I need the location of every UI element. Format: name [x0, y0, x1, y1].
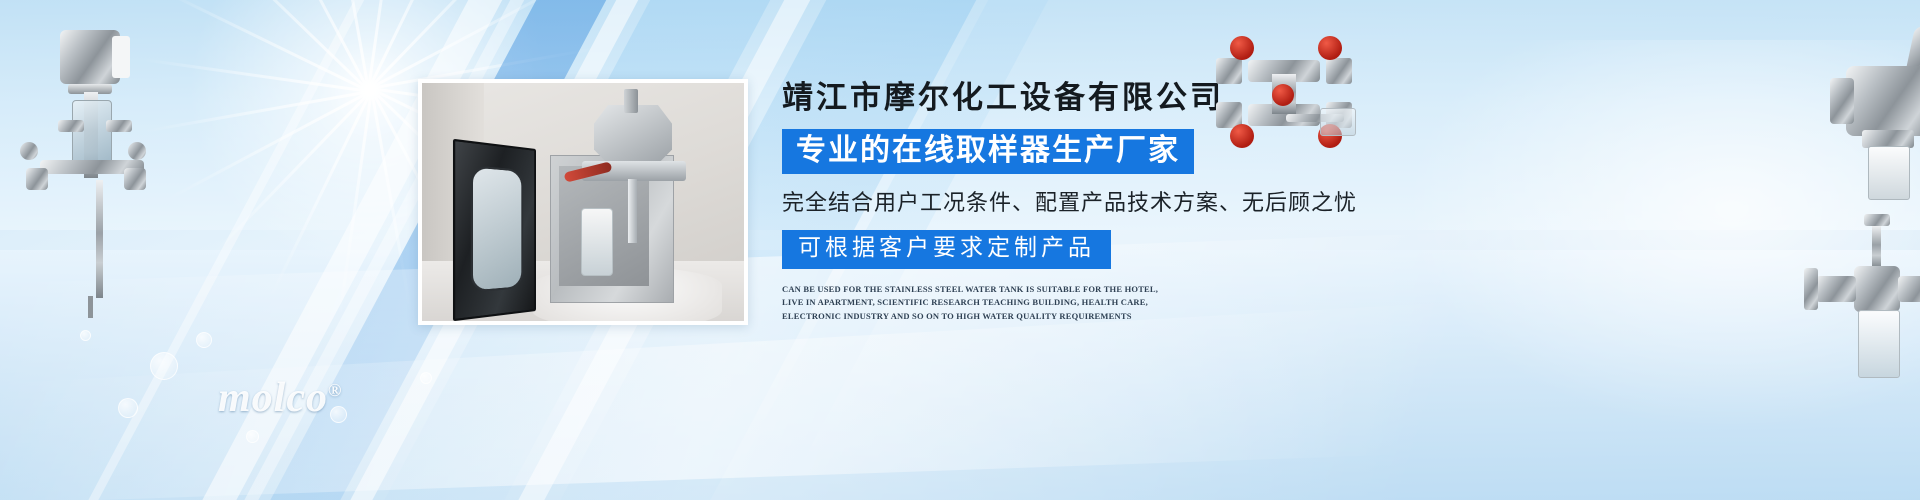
english-description: CAN BE USED FOR THE STAINLESS STEEL WATE… [782, 283, 1172, 324]
subheadline: 完全结合用户工况条件、配置产品技术方案、无后顾之忧 [782, 185, 1402, 217]
bubble [246, 430, 259, 443]
red-handwheel-icon [1230, 124, 1254, 148]
callout-highlight: 可根据客户要求定制产品 [782, 230, 1111, 268]
bubble [150, 352, 178, 380]
brand-watermark: molco® [218, 374, 342, 422]
registered-mark: ® [328, 380, 342, 400]
red-handwheel-icon [1318, 36, 1342, 60]
promo-banner: 靖江市摩尔化工设备有限公司 专业的在线取样器生产厂家 完全结合用户工况条件、配置… [0, 0, 1920, 500]
product-photo [418, 79, 748, 325]
bubble [118, 398, 138, 418]
brand-name: molco [218, 375, 328, 421]
bubble [196, 332, 212, 348]
red-handwheel-icon [1230, 36, 1254, 60]
bubble [80, 330, 91, 341]
bubble [420, 372, 432, 384]
headline-highlight: 专业的在线取样器生产厂家 [782, 129, 1194, 175]
red-handwheel-icon [1272, 84, 1294, 106]
